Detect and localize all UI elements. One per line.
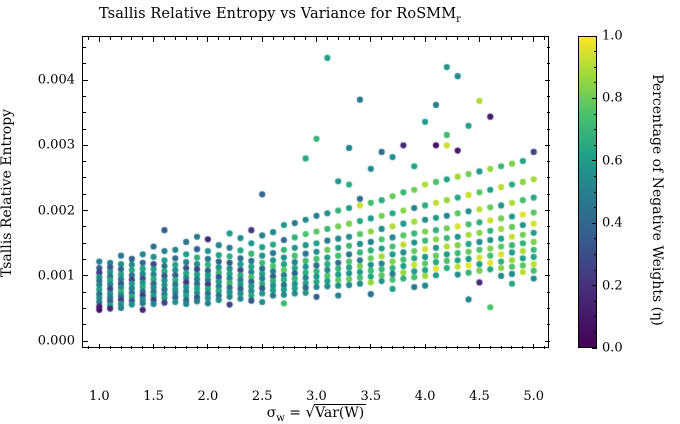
chart-title-text: Tsallis Relative Entropy vs Variance for…: [99, 6, 456, 22]
x-tick-label: 2.5: [252, 389, 273, 404]
x-axis-label-sigma: σ: [267, 405, 277, 421]
x-tick-minor: [229, 346, 230, 349]
chart-title: Tsallis Relative Entropy vs Variance for…: [0, 6, 560, 25]
x-axis-label-radicand: Var(W): [314, 404, 366, 421]
x-tick-minor: [131, 346, 132, 349]
x-tick-minor: [414, 346, 415, 349]
colorbar-tick-label: 0.6: [602, 153, 623, 168]
x-tick-minor: [186, 346, 187, 349]
x-tick-major-top: [370, 37, 371, 42]
y-tick-major: [83, 275, 88, 276]
y-tick-minor-right: [547, 324, 550, 325]
x-tick-minor: [392, 346, 393, 349]
y-tick-minor: [83, 129, 86, 130]
x-tick-minor: [121, 346, 122, 349]
colorbar-tick: [592, 160, 597, 161]
x-tick-minor-top: [197, 37, 198, 40]
x-tick-minor: [501, 346, 502, 349]
y-tick-minor: [83, 96, 86, 97]
x-tick-minor-top: [511, 37, 512, 40]
x-tick-minor: [490, 346, 491, 349]
colorbar-tick-minor: [594, 114, 597, 115]
y-tick-label: 0.001: [38, 268, 75, 283]
y-tick-label: 0.004: [38, 73, 75, 88]
x-tick-major-top: [316, 37, 317, 42]
y-tick-minor-right: [547, 112, 550, 113]
y-tick-minor-right: [547, 177, 550, 178]
x-tick-minor-top: [490, 37, 491, 40]
y-tick-major: [83, 80, 88, 81]
colorbar-tick-minor: [594, 254, 597, 255]
x-tick-minor-top: [110, 37, 111, 40]
x-tick-minor: [283, 346, 284, 349]
x-tick-label: 4.0: [415, 389, 436, 404]
colorbar-tick: [592, 36, 597, 37]
colorbar-tick-minor: [594, 207, 597, 208]
x-tick-minor: [197, 346, 198, 349]
x-tick-major: [533, 344, 534, 349]
y-tick-minor: [83, 324, 86, 325]
x-tick-minor: [359, 346, 360, 349]
x-tick-minor-top: [446, 37, 447, 40]
y-tick-major-right: [545, 210, 550, 211]
y-tick-minor: [83, 161, 86, 162]
y-tick-major: [83, 145, 88, 146]
colorbar-tick-label: 0.0: [602, 341, 623, 356]
y-tick-minor: [83, 308, 86, 309]
x-tick-minor-top: [186, 37, 187, 40]
x-tick-minor-top: [251, 37, 252, 40]
x-tick-minor-top: [164, 37, 165, 40]
colorbar-tick-minor: [594, 270, 597, 271]
colorbar-tick-minor: [594, 67, 597, 68]
x-tick-minor: [175, 346, 176, 349]
x-tick-minor-top: [327, 37, 328, 40]
x-tick-minor: [142, 346, 143, 349]
y-tick-minor: [83, 194, 86, 195]
x-tick-minor-top: [544, 37, 545, 40]
colorbar-label: Percentage of Negative Weights (η): [649, 44, 665, 356]
x-tick-minor: [349, 346, 350, 349]
x-tick-major-top: [425, 37, 426, 42]
x-tick-minor-top: [414, 37, 415, 40]
x-tick-minor: [218, 346, 219, 349]
y-tick-minor-right: [547, 194, 550, 195]
y-tick-minor-right: [547, 161, 550, 162]
x-tick-minor-top: [175, 37, 176, 40]
x-tick-label: 3.0: [306, 389, 327, 404]
y-tick-major-right: [545, 80, 550, 81]
x-tick-minor: [251, 346, 252, 349]
colorbar-tick-minor: [594, 145, 597, 146]
x-tick-minor: [338, 346, 339, 349]
y-tick-minor-right: [547, 129, 550, 130]
colorbar-tick-minor: [594, 301, 597, 302]
x-tick-minor-top: [218, 37, 219, 40]
colorbar-tick-minor: [594, 51, 597, 52]
y-tick-minor: [83, 63, 86, 64]
x-tick-major: [370, 344, 371, 349]
x-tick-minor: [164, 346, 165, 349]
x-tick-minor: [511, 346, 512, 349]
y-tick-minor-right: [547, 63, 550, 64]
x-tick-major-top: [479, 37, 480, 42]
colorbar-tick-label: 0.4: [602, 216, 623, 231]
x-tick-minor: [294, 346, 295, 349]
y-tick-major: [83, 210, 88, 211]
x-tick-major: [425, 344, 426, 349]
y-tick-minor: [83, 226, 86, 227]
x-tick-minor-top: [457, 37, 458, 40]
colorbar-tick-minor: [594, 192, 597, 193]
x-tick-minor-top: [88, 37, 89, 40]
y-tick-minor: [83, 243, 86, 244]
x-tick-minor-top: [305, 37, 306, 40]
x-tick-minor: [468, 346, 469, 349]
x-tick-minor: [110, 346, 111, 349]
x-tick-minor: [305, 346, 306, 349]
y-tick-major-right: [545, 341, 550, 342]
x-tick-minor: [88, 346, 89, 349]
colorbar-tick-minor: [594, 82, 597, 83]
x-tick-minor: [435, 346, 436, 349]
colorbar-tick-label: 0.2: [602, 278, 623, 293]
y-tick-minor: [83, 292, 86, 293]
x-tick-minor: [457, 346, 458, 349]
x-tick-minor-top: [229, 37, 230, 40]
x-tick-label: 1.5: [143, 389, 164, 404]
x-tick-major: [262, 344, 263, 349]
y-tick-label: 0.003: [38, 138, 75, 153]
x-tick-minor-top: [501, 37, 502, 40]
colorbar-tick-minor: [594, 332, 597, 333]
x-tick-minor-top: [131, 37, 132, 40]
colorbar-tick-label: 1.0: [602, 29, 623, 44]
x-tick-major: [207, 344, 208, 349]
x-tick-label: 4.5: [469, 389, 490, 404]
x-tick-minor-top: [294, 37, 295, 40]
x-tick-minor: [240, 346, 241, 349]
y-tick-minor: [83, 112, 86, 113]
x-axis-label-sub: w: [276, 413, 285, 424]
x-tick-minor-top: [403, 37, 404, 40]
x-axis-label-eq: =: [285, 405, 306, 421]
x-tick-minor-top: [435, 37, 436, 40]
y-axis-label: Tsallis Relative Entropy: [0, 37, 15, 349]
chart-title-subscript: r: [456, 14, 461, 25]
x-tick-major: [316, 344, 317, 349]
x-tick-major-top: [99, 37, 100, 42]
x-tick-major-top: [207, 37, 208, 42]
scatter-points: [83, 37, 550, 349]
x-tick-minor-top: [121, 37, 122, 40]
y-tick-minor: [83, 47, 86, 48]
plot-area: Tsallis Relative Entropy σw = √Var(W) 1.…: [82, 36, 549, 348]
colorbar-tick-minor: [594, 129, 597, 130]
x-tick-minor-top: [359, 37, 360, 40]
x-tick-minor-top: [392, 37, 393, 40]
y-tick-label: 0.000: [38, 334, 75, 349]
y-tick-major-right: [545, 145, 550, 146]
y-tick-label: 0.002: [38, 203, 75, 218]
y-tick-minor-right: [547, 226, 550, 227]
y-tick-minor: [83, 259, 86, 260]
colorbar-tick-minor: [594, 238, 597, 239]
x-tick-major: [99, 344, 100, 349]
x-tick-minor: [544, 346, 545, 349]
x-tick-minor: [522, 346, 523, 349]
y-tick-major-right: [545, 275, 550, 276]
x-tick-minor-top: [338, 37, 339, 40]
x-tick-minor-top: [468, 37, 469, 40]
colorbar-tick-minor: [594, 176, 597, 177]
colorbar-tick: [592, 223, 597, 224]
colorbar-tick-label: 0.8: [602, 91, 623, 106]
colorbar-tick: [592, 98, 597, 99]
x-tick-major: [479, 344, 480, 349]
y-tick-minor: [83, 177, 86, 178]
x-tick-label: 5.0: [523, 389, 544, 404]
x-tick-label: 1.0: [89, 389, 110, 404]
x-tick-minor-top: [142, 37, 143, 40]
x-tick-major-top: [262, 37, 263, 42]
x-tick-major-top: [153, 37, 154, 42]
x-tick-minor: [327, 346, 328, 349]
x-tick-minor: [273, 346, 274, 349]
colorbar-tick-minor: [594, 316, 597, 317]
x-tick-minor-top: [349, 37, 350, 40]
x-tick-minor-top: [273, 37, 274, 40]
x-tick-minor-top: [283, 37, 284, 40]
x-tick-minor-top: [522, 37, 523, 40]
x-tick-minor: [381, 346, 382, 349]
y-tick-minor-right: [547, 259, 550, 260]
x-tick-minor: [403, 346, 404, 349]
y-tick-minor-right: [547, 47, 550, 48]
y-tick-minor-right: [547, 243, 550, 244]
x-tick-label: 3.5: [360, 389, 381, 404]
colorbar-tick: [592, 348, 597, 349]
x-tick-major: [153, 344, 154, 349]
x-tick-minor-top: [240, 37, 241, 40]
x-tick-minor-top: [381, 37, 382, 40]
colorbar-tick: [592, 285, 597, 286]
figure: Tsallis Relative Entropy vs Variance for…: [0, 0, 680, 408]
x-tick-label: 2.0: [198, 389, 219, 404]
y-tick-major: [83, 341, 88, 342]
y-tick-minor-right: [547, 292, 550, 293]
y-tick-minor-right: [547, 308, 550, 309]
y-tick-minor-right: [547, 96, 550, 97]
x-tick-major-top: [533, 37, 534, 42]
x-axis-label: σw = √Var(W): [83, 403, 550, 424]
x-tick-minor: [446, 346, 447, 349]
